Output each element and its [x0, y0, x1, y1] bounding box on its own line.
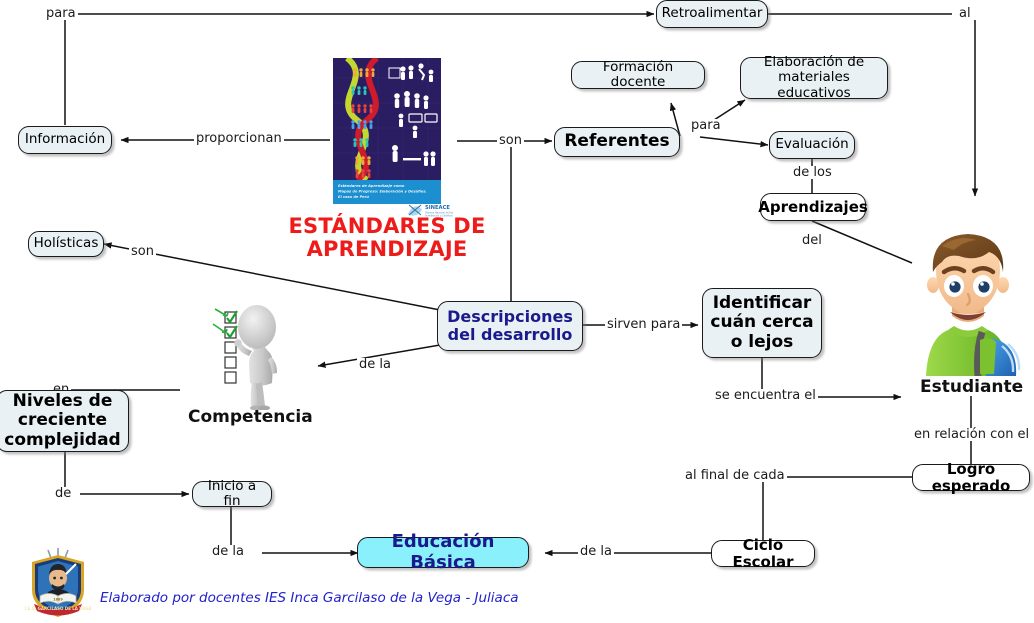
edge-label-proporcionan: proporcionan	[194, 132, 284, 145]
node-ciclo-escolar[interactable]: Ciclo Escolar	[711, 540, 815, 567]
book-cover-icon: Estándares de Aprendizaje como Mapas de …	[333, 58, 441, 206]
school-crest-icon: I.E.S. GARCILASO DE LA VEGA 1889	[22, 548, 94, 620]
node-ciclo-escolar-label: Ciclo Escolar	[719, 537, 807, 571]
node-descripciones-desarrollo[interactable]: Descripciones del desarrollo	[437, 301, 583, 351]
node-elaboracion-line1: Elaboración de	[764, 55, 864, 70]
node-educacion-basica-label: Educación Básica	[365, 532, 521, 572]
edge-label-de-los: de los	[791, 166, 834, 179]
node-identificar-line1: Identificar	[713, 294, 812, 313]
page-title-line1: ESTÁNDARES DE	[281, 215, 493, 238]
edge-label-son-holisticas: son	[129, 245, 156, 258]
node-identificar-line3: o lejos	[731, 333, 794, 352]
edge-label-de-la-educacion: de la	[210, 545, 246, 558]
edge-label-al: al	[957, 7, 973, 20]
node-holisticas[interactable]: Holísticas	[28, 231, 104, 257]
footer-credit: Elaborado por docentes IES Inca Garcilas…	[100, 591, 519, 606]
node-logro-esperado[interactable]: Logro esperado	[912, 464, 1030, 491]
node-elaboracion-line2: materiales educativos	[748, 70, 880, 100]
node-inicio-a-fin[interactable]: Inicio a fin	[192, 481, 272, 507]
3d-figure-checklist-icon	[200, 300, 300, 410]
edge-label-del: del	[800, 234, 824, 247]
svg-text:I.E.S. GARCILASO DE LA VEGA: I.E.S. GARCILASO DE LA VEGA	[25, 606, 93, 611]
node-descripciones-line1: Descripciones	[447, 308, 573, 326]
node-informacion[interactable]: Información	[18, 126, 112, 154]
concept-map-canvas: para al proporcionan son para de los del…	[0, 0, 1034, 623]
node-formacion-docente[interactable]: Formación docente	[571, 61, 705, 89]
node-niveles-line2: creciente	[18, 411, 107, 430]
node-descripciones-line2: del desarrollo	[448, 326, 573, 344]
node-holisticas-label: Holísticas	[34, 236, 99, 251]
node-retroalimentar[interactable]: Retroalimentar	[656, 0, 768, 28]
node-niveles-creciente-complejidad[interactable]: Niveles de creciente complejidad	[0, 390, 129, 452]
node-evaluacion-label: Evaluación	[775, 137, 848, 152]
node-educacion-basica[interactable]: Educación Básica	[357, 537, 529, 568]
node-referentes-label: Referentes	[564, 132, 669, 151]
node-evaluacion[interactable]: Evaluación	[769, 131, 855, 159]
edge-label-de: de	[53, 487, 73, 500]
node-elaboracion-materiales[interactable]: Elaboración de materiales educativos	[740, 57, 888, 99]
node-niveles-line3: complejidad	[4, 431, 120, 450]
student-avatar-icon	[906, 228, 1030, 376]
caption-competencia: Competencia	[188, 408, 313, 427]
node-formacion-docente-label: Formación docente	[579, 60, 697, 90]
node-retroalimentar-label: Retroalimentar	[662, 6, 763, 21]
node-identificar-line2: cuán cerca	[710, 313, 813, 332]
caption-estudiante: Estudiante	[920, 378, 1023, 397]
node-informacion-label: Información	[25, 132, 105, 147]
node-aprendizajes-label: Aprendizajes	[758, 199, 868, 216]
svg-text:SINEACE: SINEACE	[425, 205, 450, 211]
svg-text:Estándares de Aprendizaje como: Estándares de Aprendizaje como	[338, 184, 405, 188]
page-title: ESTÁNDARES DE APRENDIZAJE	[281, 215, 493, 261]
edge-label-de-la-ciclo: de la	[578, 545, 614, 558]
node-aprendizajes[interactable]: Aprendizajes	[760, 193, 866, 221]
edge-label-de-la-competencia: de la	[357, 358, 393, 371]
edge-label-al-final-de-cada: al final de cada	[683, 469, 787, 482]
node-inicio-a-fin-label: Inicio a fin	[200, 479, 264, 509]
edge-label-sirven-para: sirven para	[605, 318, 682, 331]
node-logro-esperado-label: Logro esperado	[920, 461, 1022, 495]
node-identificar-cuan-cerca-o-lejos[interactable]: Identificar cuán cerca o lejos	[702, 288, 822, 358]
edge-label-en-relacion-con-el: en relación con el	[912, 428, 1031, 441]
svg-text:1889: 1889	[53, 598, 63, 602]
node-niveles-line1: Niveles de	[13, 392, 113, 411]
edge-label-se-encuentra-el: se encuentra el	[713, 389, 818, 402]
edge-label-son-referentes: son	[497, 134, 524, 147]
node-referentes[interactable]: Referentes	[554, 127, 680, 157]
svg-text:Mapas de Progreso: Elaboración: Mapas de Progreso: Elaboración y Desafío…	[338, 190, 427, 194]
edge-label-para-referentes: para	[689, 119, 723, 132]
svg-text:El caso de Perú: El caso de Perú	[338, 195, 369, 199]
page-title-line2: APRENDIZAJE	[281, 238, 493, 261]
edge-label-para-top: para	[44, 7, 78, 20]
